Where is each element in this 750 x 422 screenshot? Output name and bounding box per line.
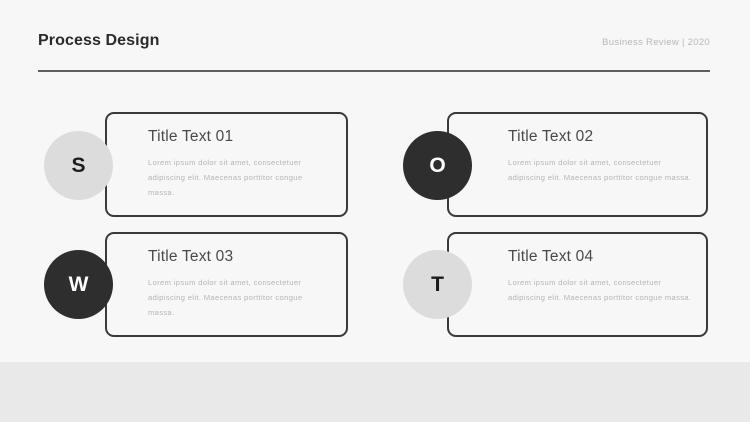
header-divider xyxy=(38,70,710,72)
slide-header: Process Design Business Review | 2020 xyxy=(38,28,710,72)
card-text-block: Title Text 02 Lorem ipsum dolor sit amet… xyxy=(508,128,698,185)
process-card[interactable]: Title Text 03 Lorem ipsum dolor sit amet… xyxy=(105,232,348,337)
card-title: Title Text 02 xyxy=(508,128,698,145)
card-body-text: Lorem ipsum dolor sit amet, consectetuer… xyxy=(148,275,330,320)
card-letter-badge: T xyxy=(403,250,472,319)
card-body-text: Lorem ipsum dolor sit amet, consectetuer… xyxy=(148,155,330,200)
card-title: Title Text 04 xyxy=(508,248,698,265)
card-letter-badge: W xyxy=(44,250,113,319)
process-card[interactable]: Title Text 04 Lorem ipsum dolor sit amet… xyxy=(447,232,708,337)
card-text-block: Title Text 04 Lorem ipsum dolor sit amet… xyxy=(508,248,698,305)
header-meta-label: Business Review | 2020 xyxy=(602,37,710,48)
card-text-block: Title Text 03 Lorem ipsum dolor sit amet… xyxy=(148,248,330,320)
slide-canvas: Process Design Business Review | 2020 Ti… xyxy=(0,0,750,362)
card-letter-badge: O xyxy=(403,131,472,200)
process-card[interactable]: Title Text 01 Lorem ipsum dolor sit amet… xyxy=(105,112,348,217)
card-body-text: Lorem ipsum dolor sit amet, consectetuer… xyxy=(508,155,698,185)
card-body-text: Lorem ipsum dolor sit amet, consectetuer… xyxy=(508,275,698,305)
footer-band xyxy=(0,362,750,422)
card-title: Title Text 01 xyxy=(148,128,330,145)
card-letter-badge: S xyxy=(44,131,113,200)
process-card[interactable]: Title Text 02 Lorem ipsum dolor sit amet… xyxy=(447,112,708,217)
card-title: Title Text 03 xyxy=(148,248,330,265)
page-title: Process Design xyxy=(38,32,159,50)
card-text-block: Title Text 01 Lorem ipsum dolor sit amet… xyxy=(148,128,330,200)
